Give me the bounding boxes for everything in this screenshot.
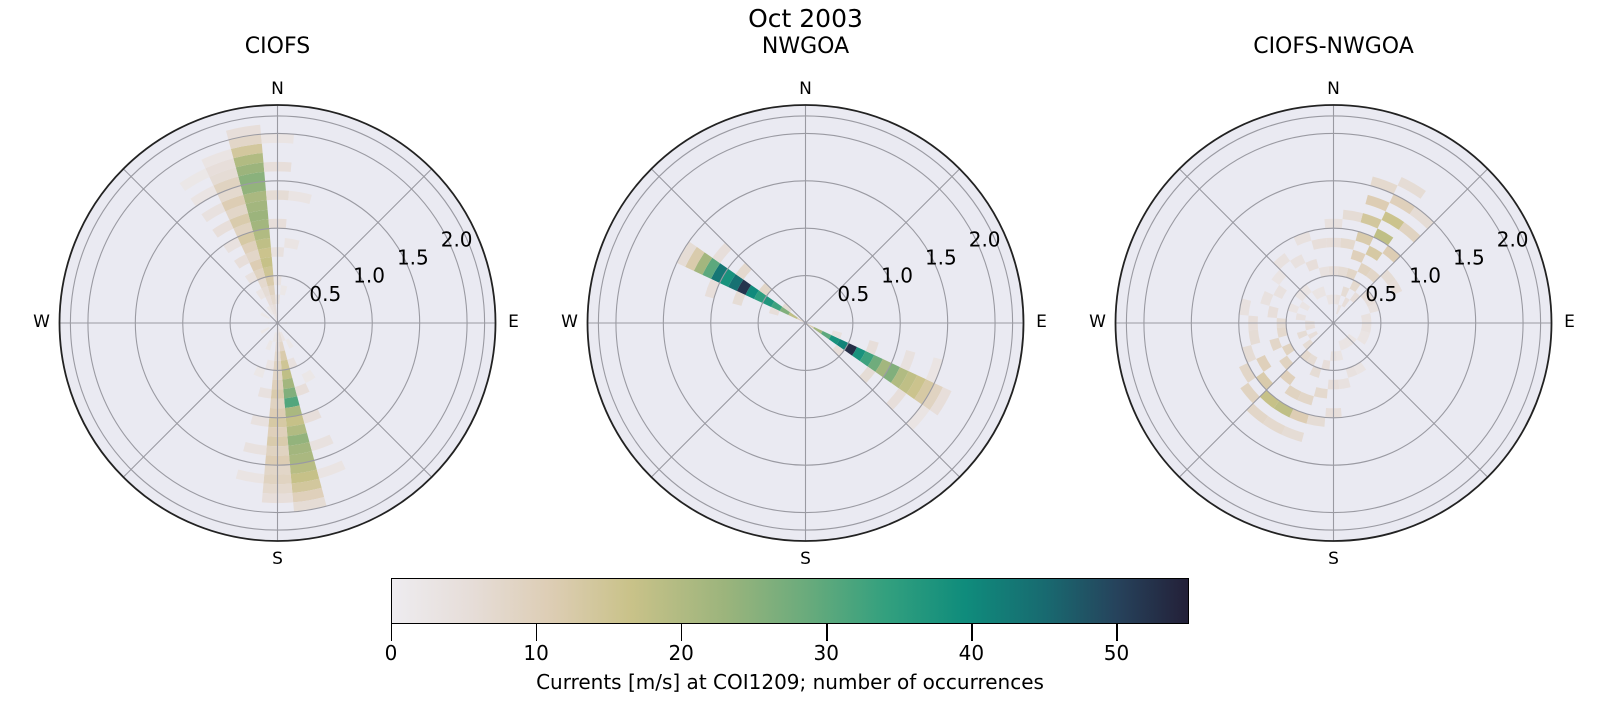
radial-tick-label: 1.0 <box>353 264 385 288</box>
direction-label-east: E <box>1564 312 1575 332</box>
radial-tick-label: 1.5 <box>925 246 957 270</box>
direction-label-west: W <box>33 312 50 332</box>
radial-tick-label: 0.5 <box>837 282 869 306</box>
colorbar-tick-mark <box>536 624 537 641</box>
direction-label-north: N <box>1327 79 1340 99</box>
polar-axes-1: 0.51.01.52.0 <box>537 28 1074 573</box>
polar-plot-0[interactable]: 0.51.01.52.0NESW <box>9 28 546 573</box>
figure-canvas: Oct 2003 CIOFS 0.51.01.52.0NESW NWGOA 0.… <box>0 0 1611 724</box>
colorbar-tick-label: 30 <box>814 641 839 665</box>
colorbar-tick-label: 0 <box>385 641 398 665</box>
colorbar-tick-mark <box>826 624 827 641</box>
colorbar-label: Currents [m/s] at COI1209; number of occ… <box>391 670 1189 694</box>
radial-tick-label: 1.5 <box>1453 246 1485 270</box>
radial-tick-label: 1.0 <box>881 264 913 288</box>
colorbar-ticks: 01020304050 <box>391 624 1189 658</box>
colorbar[interactable]: 01020304050 Currents [m/s] at COI1209; n… <box>391 578 1189 624</box>
polar-panel-ciofs[interactable]: CIOFS 0.51.01.52.0NESW <box>9 28 546 573</box>
colorbar-tick-label: 10 <box>523 641 548 665</box>
colorbar-tick-mark <box>681 624 682 641</box>
radial-tick-label: 2.0 <box>969 227 1001 251</box>
colorbar-tick-mark <box>1116 624 1117 641</box>
polar-plot-1[interactable]: 0.51.01.52.0NESW <box>537 28 1074 573</box>
polar-panel-ciofs-nwgoa[interactable]: CIOFS-NWGOA 0.51.01.52.0NESW <box>1065 28 1602 573</box>
direction-label-east: E <box>1036 312 1047 332</box>
direction-label-east: E <box>508 312 519 332</box>
colorbar-gradient <box>391 578 1189 624</box>
colorbar-tick-mark <box>971 624 972 641</box>
radial-tick-label: 1.5 <box>397 246 429 270</box>
radial-tick-label: 0.5 <box>1365 282 1397 306</box>
colorbar-tick-label: 50 <box>1104 641 1129 665</box>
radial-tick-label: 2.0 <box>1497 227 1529 251</box>
radial-tick-label: 0.5 <box>309 282 341 306</box>
radial-tick-label: 2.0 <box>441 227 473 251</box>
polar-plot-2[interactable]: 0.51.01.52.0NESW <box>1065 28 1602 573</box>
radial-tick-label: 1.0 <box>1409 264 1441 288</box>
direction-label-north: N <box>271 79 284 99</box>
colorbar-tick-label: 40 <box>959 641 984 665</box>
polar-panel-nwgoa[interactable]: NWGOA 0.51.01.52.0NESW <box>537 28 1074 573</box>
direction-label-south: S <box>272 549 283 569</box>
direction-label-north: N <box>799 79 812 99</box>
direction-label-south: S <box>1328 549 1339 569</box>
direction-label-west: W <box>561 312 578 332</box>
polar-axes-0: 0.51.01.52.0 <box>9 28 546 573</box>
direction-label-west: W <box>1089 312 1106 332</box>
direction-label-south: S <box>800 549 811 569</box>
polar-axes-2: 0.51.01.52.0 <box>1065 28 1602 573</box>
colorbar-tick-mark <box>391 624 392 641</box>
colorbar-tick-label: 20 <box>668 641 693 665</box>
